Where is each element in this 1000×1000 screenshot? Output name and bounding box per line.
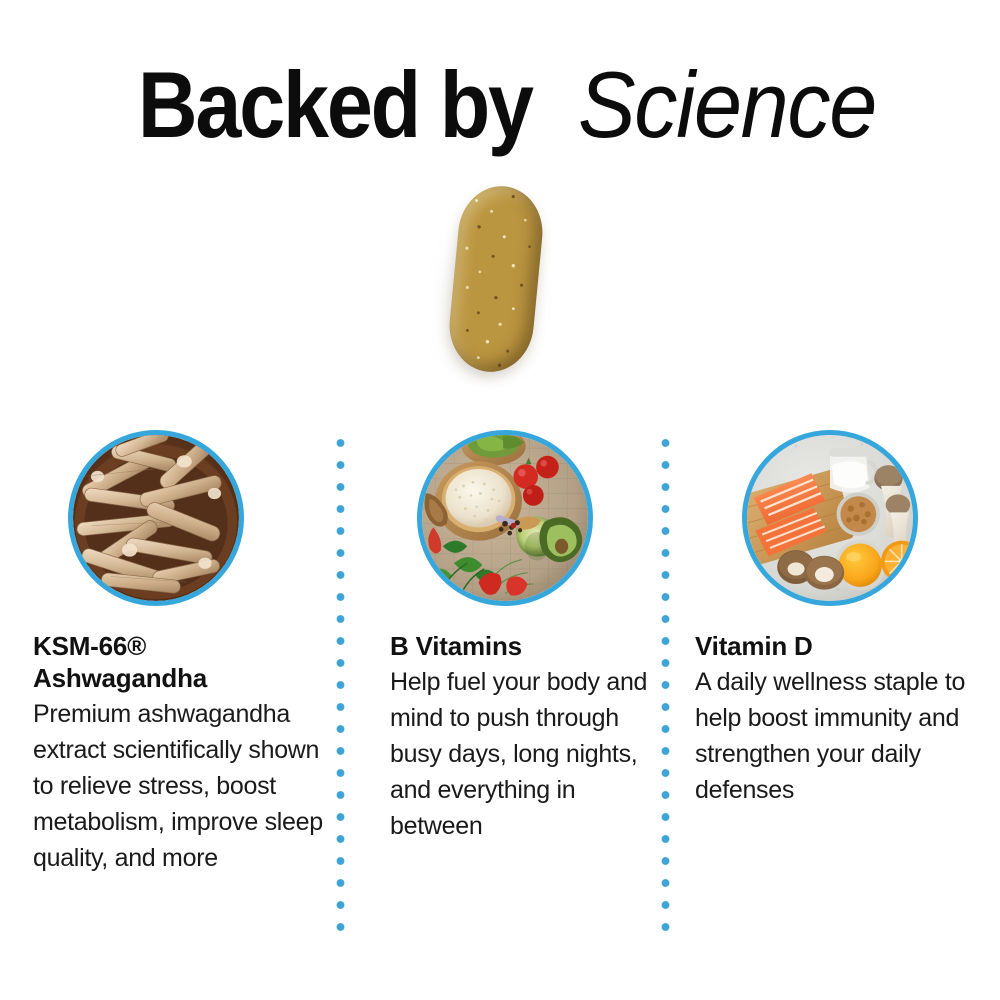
ingredient-body-vitamin-d: A daily wellness staple to help boost im… [695,664,980,808]
ingredient-body-b-vitamins: Help fuel your body and mind to push thr… [390,664,648,844]
ashwagandha-roots-illustration [73,435,239,601]
ingredient-column-vitamin-d: Vitamin D A daily wellness staple to hel… [695,430,980,808]
page-title: Backed byScience [0,58,1000,152]
ingredient-headline-b-vitamins: B Vitamins [390,630,648,662]
ingredient-column-b-vitamins: B Vitamins Help fuel your body and mind … [390,430,648,844]
ingredient-columns: KSM-66® Ashwagandha Premium ashwagandha … [0,430,1000,970]
b-vitamins-foods-illustration [422,435,588,601]
ashwagandha-roots-image [68,430,244,606]
infographic-page: Backed byScience [0,0,1000,1000]
ingredient-body-ashwagandha: Premium ashwagandha extract scientifical… [33,696,323,876]
page-title-italic: Science [578,58,876,152]
ingredient-headline-vitamin-d: Vitamin D [695,630,980,662]
vitamin-d-foods-image [742,430,918,606]
product-tablet-image [430,178,570,398]
ingredient-column-ashwagandha: KSM-66® Ashwagandha Premium ashwagandha … [33,430,323,876]
vitamin-d-foods-illustration [747,435,913,601]
page-title-regular: Backed by [138,58,532,152]
b-vitamins-foods-image [417,430,593,606]
ingredient-headline-ashwagandha: KSM-66® Ashwagandha [33,630,323,694]
